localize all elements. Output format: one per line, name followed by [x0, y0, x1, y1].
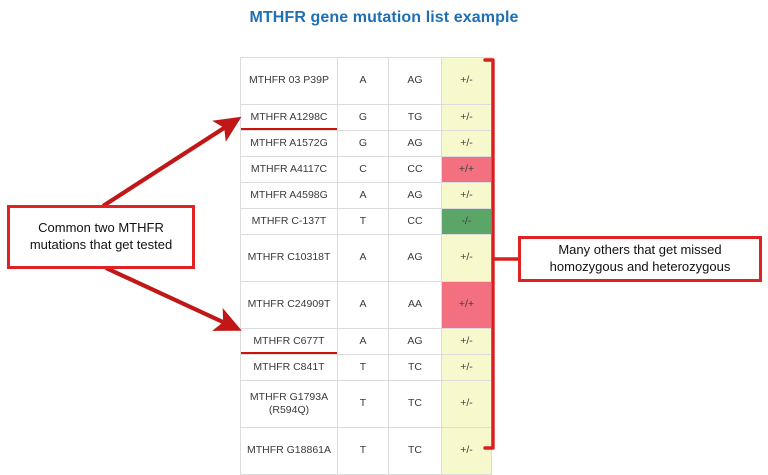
genotype-cell: AG: [389, 131, 442, 157]
arrow-to-a1298c: [103, 119, 238, 206]
table-row: MTHFR A4117CCCC+/+: [241, 157, 492, 183]
genotype-cell: TC: [389, 355, 442, 381]
genotype-cell: CC: [389, 157, 442, 183]
genotype-cell: TG: [389, 105, 442, 131]
zygosity-cell: +/+: [442, 282, 492, 329]
mutation-name-cell: MTHFR A4117C: [241, 157, 338, 183]
zygosity-cell: +/-: [442, 105, 492, 131]
allele-cell: A: [338, 183, 389, 209]
callout-missed-mutations-text: Many others that get missed homozygous a…: [527, 242, 753, 275]
mutation-name-cell: MTHFR A1572G: [241, 131, 338, 157]
zygosity-cell: +/-: [442, 235, 492, 282]
genotype-cell: AA: [389, 282, 442, 329]
zygosity-cell: +/-: [442, 58, 492, 105]
zygosity-cell: +/-: [442, 329, 492, 355]
table-row: MTHFR 03 P39PAAG+/-: [241, 58, 492, 105]
mutation-name-cell: MTHFR G1793A (R594Q): [241, 381, 338, 428]
table-row: MTHFR C677TAAG+/-: [241, 329, 492, 355]
mutation-name-cell: MTHFR C-137T: [241, 209, 338, 235]
callout-common-mutations: Common two MTHFR mutations that get test…: [7, 205, 195, 269]
genotype-cell: AG: [389, 183, 442, 209]
allele-cell: A: [338, 235, 389, 282]
zygosity-cell: +/-: [442, 355, 492, 381]
zygosity-cell: +/+: [442, 157, 492, 183]
arrow-to-c677t: [106, 268, 238, 329]
callout-missed-mutations: Many others that get missed homozygous a…: [518, 236, 762, 282]
zygosity-cell: +/-: [442, 428, 492, 475]
genotype-cell: AG: [389, 329, 442, 355]
allele-cell: G: [338, 105, 389, 131]
genotype-cell: CC: [389, 209, 442, 235]
genotype-cell: AG: [389, 235, 442, 282]
mutation-table: MTHFR 03 P39PAAG+/-MTHFR A1298CGTG+/-MTH…: [240, 57, 492, 475]
callout-common-mutations-text: Common two MTHFR mutations that get test…: [16, 220, 186, 253]
screenshot-canvas: MTHFR gene mutation list example MTHFR 0…: [0, 0, 768, 460]
allele-cell: T: [338, 355, 389, 381]
mutation-name-cell: MTHFR G18861A: [241, 428, 338, 475]
table-row: MTHFR C10318TAAG+/-: [241, 235, 492, 282]
table-row: MTHFR G1793A (R594Q)TTC+/-: [241, 381, 492, 428]
allele-cell: A: [338, 329, 389, 355]
mutation-name-cell: MTHFR C677T: [241, 329, 338, 355]
mutation-name-cell: MTHFR 03 P39P: [241, 58, 338, 105]
table-row: MTHFR C-137TTCC-/-: [241, 209, 492, 235]
zygosity-cell: +/-: [442, 381, 492, 428]
table-row: MTHFR A1298CGTG+/-: [241, 105, 492, 131]
allele-cell: T: [338, 209, 389, 235]
allele-cell: G: [338, 131, 389, 157]
genotype-cell: TC: [389, 381, 442, 428]
genotype-cell: AG: [389, 58, 442, 105]
mutation-name-cell: MTHFR C841T: [241, 355, 338, 381]
zygosity-cell: +/-: [442, 183, 492, 209]
page-title: MTHFR gene mutation list example: [0, 9, 768, 27]
mutation-name-cell: MTHFR C10318T: [241, 235, 338, 282]
allele-cell: T: [338, 381, 389, 428]
mutation-name-cell: MTHFR C24909T: [241, 282, 338, 329]
allele-cell: A: [338, 58, 389, 105]
zygosity-cell: +/-: [442, 131, 492, 157]
allele-cell: C: [338, 157, 389, 183]
mutation-name-cell: MTHFR A1298C: [241, 105, 338, 131]
allele-cell: T: [338, 428, 389, 475]
table-row: MTHFR C841TTTC+/-: [241, 355, 492, 381]
genotype-cell: TC: [389, 428, 442, 475]
allele-cell: A: [338, 282, 389, 329]
zygosity-cell: -/-: [442, 209, 492, 235]
table-row: MTHFR C24909TAAA+/+: [241, 282, 492, 329]
table-row: MTHFR A4598GAAG+/-: [241, 183, 492, 209]
mutation-name-cell: MTHFR A4598G: [241, 183, 338, 209]
table-row: MTHFR G18861ATTC+/-: [241, 428, 492, 475]
table-row: MTHFR A1572GGAG+/-: [241, 131, 492, 157]
